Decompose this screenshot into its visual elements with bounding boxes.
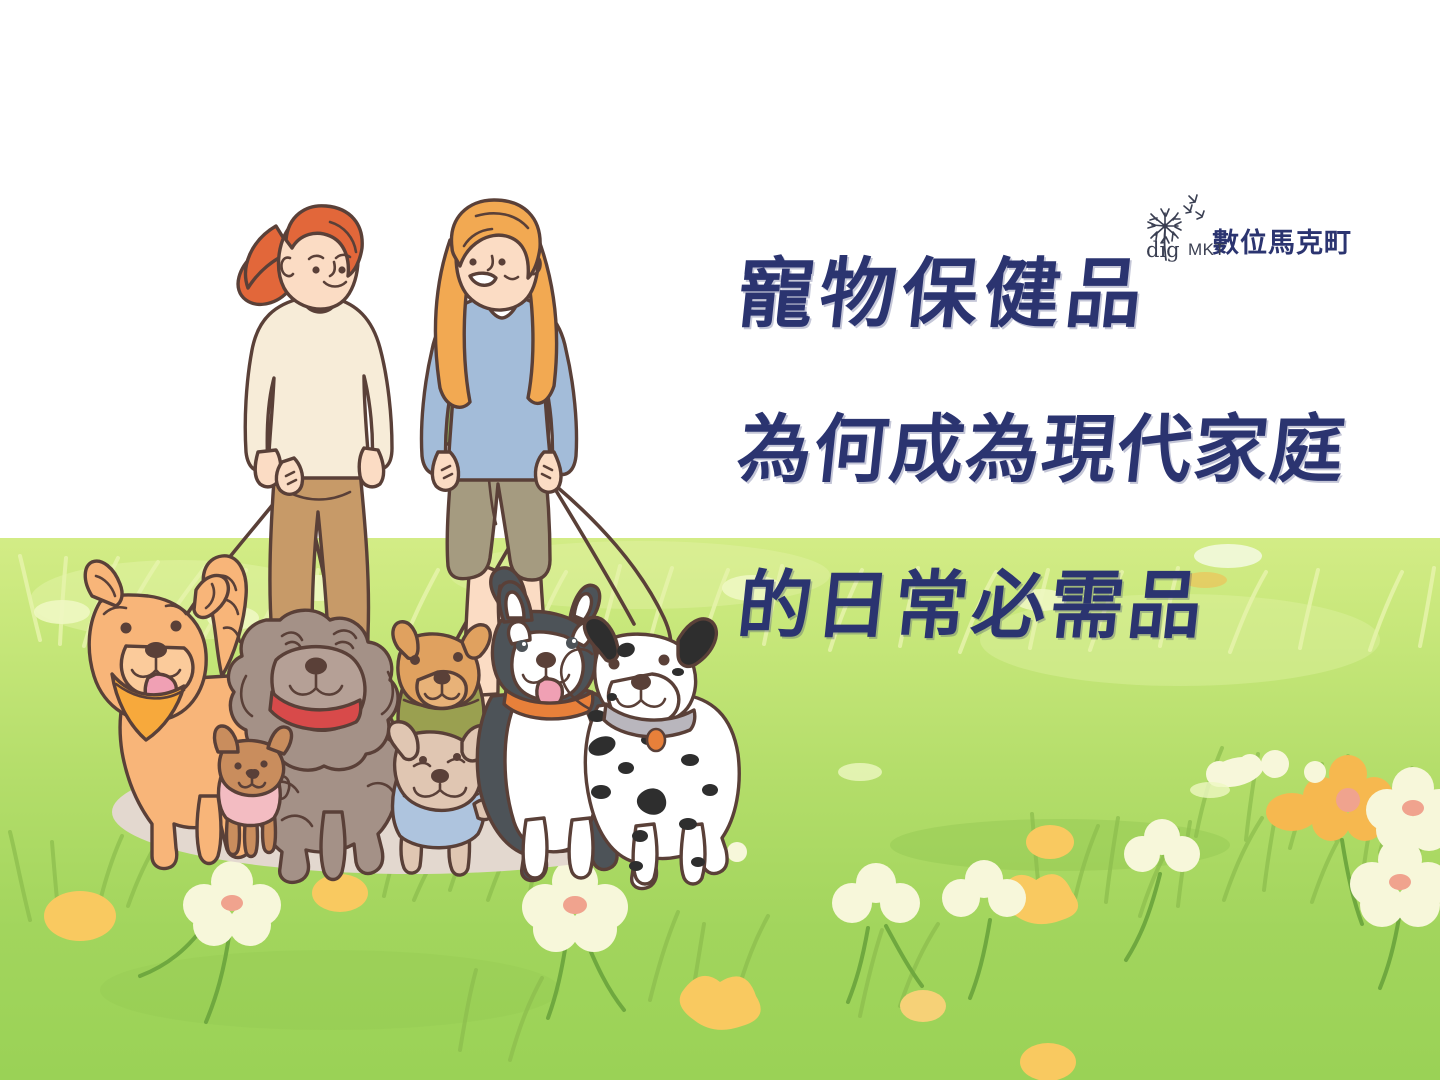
logo-text-mkt: MKT <box>1188 240 1225 260</box>
logo-text-dig: dig <box>1146 238 1180 262</box>
poster-canvas: .ol { stroke:#5a4038; stroke-width:3.4; … <box>0 0 1440 1080</box>
dandelion-icon: dig MKT <box>1140 192 1194 262</box>
headline-line-3: 的日常必需品 <box>734 564 1403 648</box>
logo-text-chinese: 數位馬克町 <box>1212 221 1352 262</box>
brand-logo: dig MKT 數位馬克町 <box>1140 190 1352 262</box>
headline-line-1: 寵物保健品 <box>734 252 1403 336</box>
headline-block: 寵物保健品 為何成為現代家庭 的日常必需品 <box>738 252 1398 648</box>
headline-line-2: 為何成為現代家庭 <box>734 408 1403 492</box>
